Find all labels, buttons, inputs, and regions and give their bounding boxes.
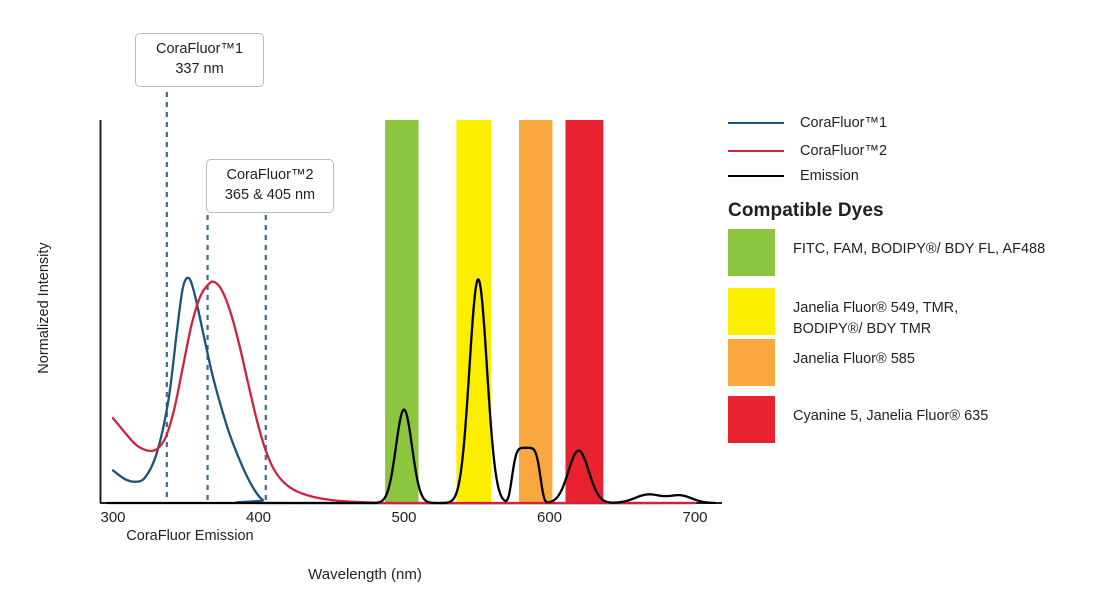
legend-item-corafluor1: CoraFluor™1 [728, 112, 887, 134]
legend-line-swatch [728, 150, 784, 152]
legend-item-emission: Emission [728, 165, 859, 187]
legend-item-corafluor2: CoraFluor™2 [728, 140, 887, 162]
callout-corafluor1: CoraFluor™1 337 nm [135, 33, 264, 87]
legend-line-label: CoraFluor™1 [800, 115, 887, 131]
legend-line-label: CoraFluor™2 [800, 143, 887, 159]
dye-row-2: Janelia Fluor® 549, TMR, BODIPY®/ BDY TM… [728, 288, 958, 340]
callout-corafluor2: CoraFluor™2 365 & 405 nm [206, 159, 334, 213]
orange-band [519, 120, 552, 503]
callout-corafluor2-line2: 365 & 405 nm [217, 186, 323, 206]
legend-line-swatch [728, 122, 784, 124]
callout-corafluor1-line2: 337 nm [146, 60, 253, 80]
dye-label: Janelia Fluor® 549, TMR, BODIPY®/ BDY TM… [793, 288, 958, 340]
spectra-figure: CoraFluor™1 337 nm CoraFluor™2 365 & 405… [0, 0, 1110, 612]
callout-corafluor2-line1: CoraFluor™2 [217, 166, 323, 186]
x-axis-title: Wavelength (nm) [0, 566, 730, 583]
x-tick-label-300: 300 [83, 509, 143, 526]
dye-label: Cyanine 5, Janelia Fluor® 635 [793, 396, 988, 427]
compatible-dyes-heading: Compatible Dyes [728, 200, 884, 222]
dye-row-1: FITC, FAM, BODIPY®/ BDY FL, AF488 [728, 229, 1045, 276]
dye-row-4: Cyanine 5, Janelia Fluor® 635 [728, 396, 988, 443]
x-tick-label-400: 400 [229, 509, 289, 526]
x-tick-label-500: 500 [374, 509, 434, 526]
plot-area: CoraFluor™1 337 nm CoraFluor™2 365 & 405… [0, 0, 730, 612]
color-bands-group [385, 120, 603, 503]
green-band [385, 120, 418, 503]
dye-color-swatch [728, 229, 775, 276]
dye-color-swatch [728, 339, 775, 386]
dye-row-3: Janelia Fluor® 585 [728, 339, 915, 386]
dye-color-swatch [728, 396, 775, 443]
y-axis-title: Normalized Intensity [36, 208, 52, 408]
dye-label: FITC, FAM, BODIPY®/ BDY FL, AF488 [793, 229, 1045, 260]
dye-color-swatch [728, 288, 775, 335]
section-label-emission: CoraFluor Emission [126, 528, 253, 544]
callout-corafluor1-line1: CoraFluor™1 [146, 40, 253, 60]
legend-panel: CoraFluor™1CoraFluor™2Emission Compatibl… [728, 0, 1110, 612]
dye-label: Janelia Fluor® 585 [793, 339, 915, 370]
red-band [566, 120, 604, 503]
legend-line-label: Emission [800, 168, 859, 184]
x-tick-label-600: 600 [520, 509, 580, 526]
legend-line-swatch [728, 175, 784, 177]
x-tick-label-700: 700 [665, 509, 725, 526]
